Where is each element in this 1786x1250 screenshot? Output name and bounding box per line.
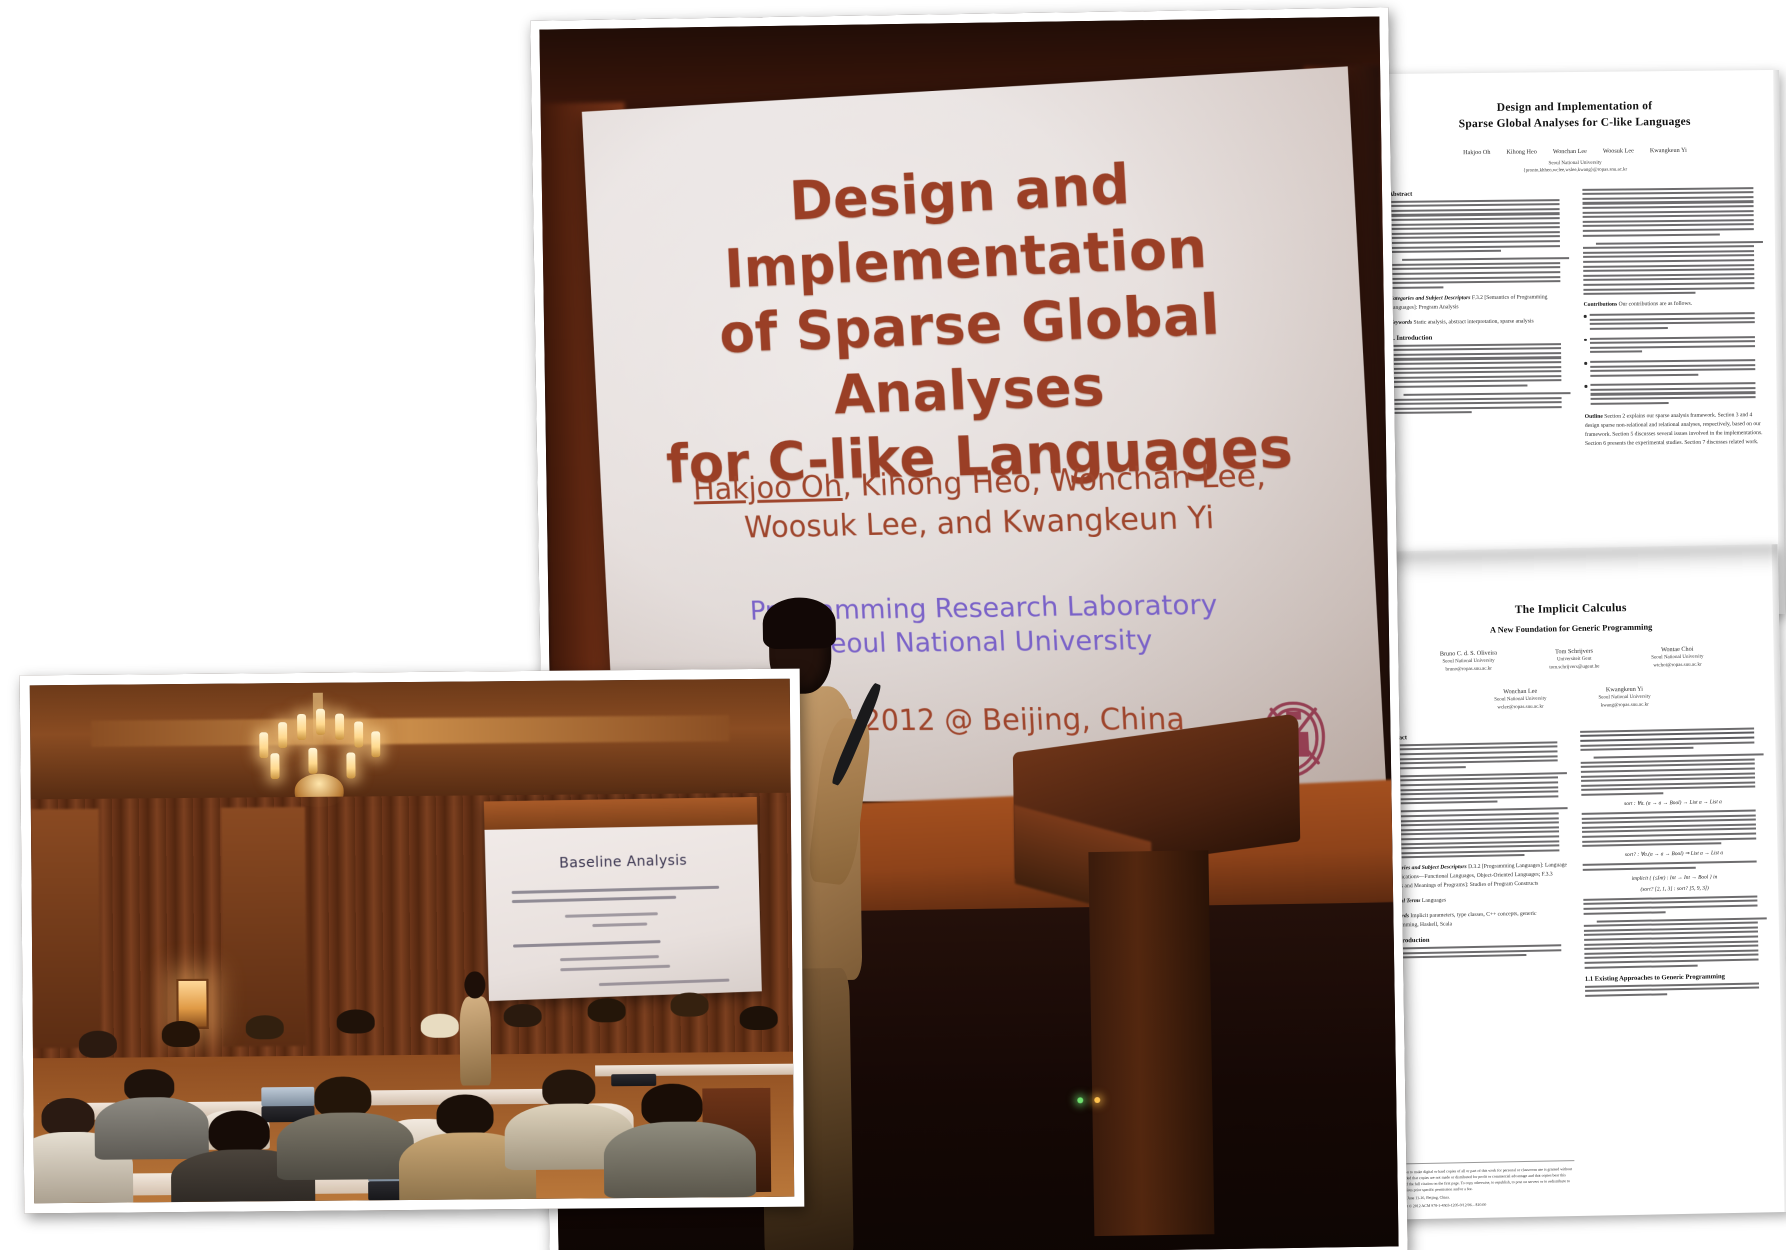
paper2-right-p2 — [1581, 754, 1765, 796]
paper2-math-sort: sort : ∀a. (a → a → Bool) → List a → Lis… — [1581, 798, 1764, 808]
paper-sparse-global-analyses[interactable]: Design and Implementation of Sparse Glob… — [1369, 70, 1785, 618]
laptop — [611, 1074, 657, 1086]
slide-affiliation: Programming Research Laboratory Seoul Na… — [606, 586, 1379, 665]
chandelier-candle — [270, 753, 279, 779]
paper1-right-p2 — [1583, 241, 1764, 295]
attendee-head — [337, 1010, 375, 1034]
attendee-head — [420, 1014, 458, 1038]
paper2-column-right: sort : ∀a. (a → a → Bool) → List a → Lis… — [1580, 727, 1768, 1003]
paper-implicit-calculus[interactable]: The Implicit Calculus A New Foundation f… — [1362, 544, 1786, 1220]
slide-formula-line — [565, 913, 658, 919]
chandelier-candle — [308, 748, 317, 774]
chandelier-candle — [259, 732, 268, 758]
slide-formula-line — [592, 923, 647, 928]
paper2-right-p4 — [1583, 861, 1766, 871]
chandelier-candle — [316, 709, 325, 735]
paper1-outline: Outline Section 2 explains our sparse an… — [1585, 411, 1765, 449]
paper2-right-p6 — [1584, 917, 1768, 968]
slide-title: Design and Implementation of Sparse Glob… — [585, 140, 1369, 499]
attendee-head — [436, 1094, 493, 1135]
chandelier-candle — [278, 722, 287, 748]
podium-column — [1089, 851, 1215, 1237]
attendee-head — [641, 1083, 702, 1126]
collage-stage: Design and Implementation of Sparse Glob… — [0, 0, 1786, 1250]
paper2-title: The Implicit Calculus — [1381, 598, 1761, 621]
speaker-hair — [763, 597, 836, 649]
paper1-intro-p2 — [1391, 392, 1571, 414]
slide-bullet-line — [511, 885, 718, 893]
author-block: Bruno C. d. S. Oliveira Seoul National U… — [1440, 648, 1498, 674]
paper1-abstract-heading: Abstract — [1388, 189, 1568, 198]
paper2-right-p5 — [1583, 895, 1766, 914]
paper1-title: Design and Implementation of Sparse Glob… — [1387, 98, 1761, 133]
paper1-abstract-p1 — [1388, 199, 1569, 253]
paper2-math-sort-calls: (sort? [2, 1, 3] : sort? [5, 9, 3]) — [1583, 884, 1766, 894]
paper1-contributions-list — [1584, 312, 1765, 407]
slide-coauthors-line1: , Kihong Heo, Wonchan Lee, — [841, 458, 1266, 504]
paper2-math-implicit-block: implicit { (≤Int) : Int → Int → Bool } i… — [1583, 873, 1766, 883]
paper2-intro-heading: 1. Introduction — [1387, 934, 1570, 945]
paper2-math-sort-implicit: sort? : ∀a.(a → a → Bool) ⇒ List a → Lis… — [1582, 850, 1765, 860]
audience-photo-content: Baseline Analysis — [30, 679, 794, 1204]
attendee-shoulders — [277, 1112, 414, 1180]
paper2-abstract-p2 — [1384, 772, 1568, 805]
paper2-copyright: Copyright © 2012 ACM 978-1-4503-1205-9/1… — [1392, 1200, 1575, 1210]
paper2-subsection-p1 — [1585, 982, 1768, 997]
paper2-copyright-block: Permission to make digital or hard copie… — [1391, 1160, 1575, 1210]
attendee-head — [739, 1006, 777, 1030]
paper2-abstract-p3 — [1385, 808, 1569, 859]
paper1-abstract-p2 — [1389, 257, 1569, 288]
list-item — [1584, 336, 1764, 356]
chandelier-candle — [371, 731, 380, 757]
attendee-head — [314, 1076, 371, 1117]
bullet-icon — [1584, 315, 1587, 318]
led-indicator-amber — [1094, 1097, 1100, 1103]
list-item — [1584, 382, 1764, 407]
audience-photo[interactable]: Baseline Analysis — [20, 669, 805, 1214]
paper1-contributions-label: Contributions Our contributions are as f… — [1584, 299, 1764, 310]
paper1-keywords: Keywords Static analysis, abstract inter… — [1390, 317, 1570, 328]
paper2-authors-row2: Wonchan Lee Seoul National University wc… — [1382, 682, 1762, 714]
paper1-authors: Hakjoo Oh Kihong Heo Wonchan Lee Woosuk … — [1388, 146, 1762, 157]
podium — [1013, 731, 1306, 1227]
paper2-right-p1 — [1580, 727, 1763, 751]
bullet-icon — [1584, 362, 1587, 365]
paper2-keywords: Keywords Implicit parameters, type class… — [1387, 909, 1570, 930]
attendee-head — [587, 998, 625, 1022]
slide-bullet-line — [511, 896, 676, 903]
paper2-right-p3 — [1582, 809, 1766, 847]
attendee-shoulders — [604, 1121, 757, 1199]
audience-seating — [32, 958, 794, 1203]
attendee-head — [504, 1003, 542, 1027]
slide-presenter-name: Hakjoo Oh — [692, 469, 843, 507]
paper2-subsection-heading: 1.1 Existing Approaches to Generic Progr… — [1585, 972, 1768, 983]
chandelier-candle — [354, 721, 363, 747]
paper1-column-left: Abstract Categories and Subject Descript… — [1388, 189, 1571, 451]
chandelier-candle — [297, 714, 306, 740]
paper2-permission: Permission to make digital or hard copie… — [1391, 1166, 1574, 1194]
paper1-right-p1 — [1582, 187, 1762, 237]
list-item — [1584, 312, 1764, 332]
bullet-icon — [1584, 385, 1587, 388]
paper2-intro-p1 — [1387, 944, 1570, 959]
attendee-head — [245, 1015, 283, 1039]
paper1-intro-p1 — [1390, 343, 1570, 388]
paper2-general-terms: General Terms Languages — [1386, 894, 1569, 906]
attendee-head — [671, 992, 709, 1016]
paper1-categories: Categories and Subject Descriptors F.3.2… — [1389, 293, 1569, 313]
attendee-head — [162, 1021, 200, 1048]
slide-bullet-line — [513, 940, 661, 948]
attendee-head — [208, 1111, 269, 1154]
paper2-column-left: Abstract — [1383, 731, 1571, 1007]
attendee-head — [542, 1070, 596, 1109]
laptop-screen — [261, 1086, 314, 1106]
screen-valance — [484, 797, 757, 829]
paper1-column-right: Contributions Our contributions are as f… — [1582, 187, 1765, 449]
bullet-icon — [1584, 338, 1587, 341]
paper2-categories: Categories and Subject Descriptors D.3.2… — [1386, 861, 1569, 891]
audience-slide-title: Baseline Analysis — [485, 851, 758, 873]
paper2-subtitle: A New Foundation for Generic Programming — [1381, 620, 1761, 636]
paper1-intro-heading: 1. Introduction — [1390, 333, 1570, 342]
chandelier-candle — [346, 752, 355, 778]
paper2-authors-row1: Bruno C. d. S. Oliveira Seoul National U… — [1382, 643, 1762, 675]
list-item — [1584, 359, 1764, 379]
paper2-abstract-p1 — [1383, 741, 1566, 770]
author-block: Kwangkeun Yi Seoul National University k… — [1598, 684, 1651, 710]
paper2-abstract-heading: Abstract — [1383, 731, 1566, 742]
author-block: Tom Schrijvers Universiteit Gent tom.sch… — [1549, 646, 1600, 672]
attendee-shoulders — [94, 1097, 209, 1160]
author-block: Wonchan Lee Seoul National University wc… — [1494, 686, 1547, 712]
attendee-head — [78, 1031, 116, 1058]
chandelier-candle — [335, 714, 344, 740]
author-block: Wontae Choi Seoul National University wt… — [1651, 644, 1704, 670]
attendee-head — [41, 1098, 95, 1137]
